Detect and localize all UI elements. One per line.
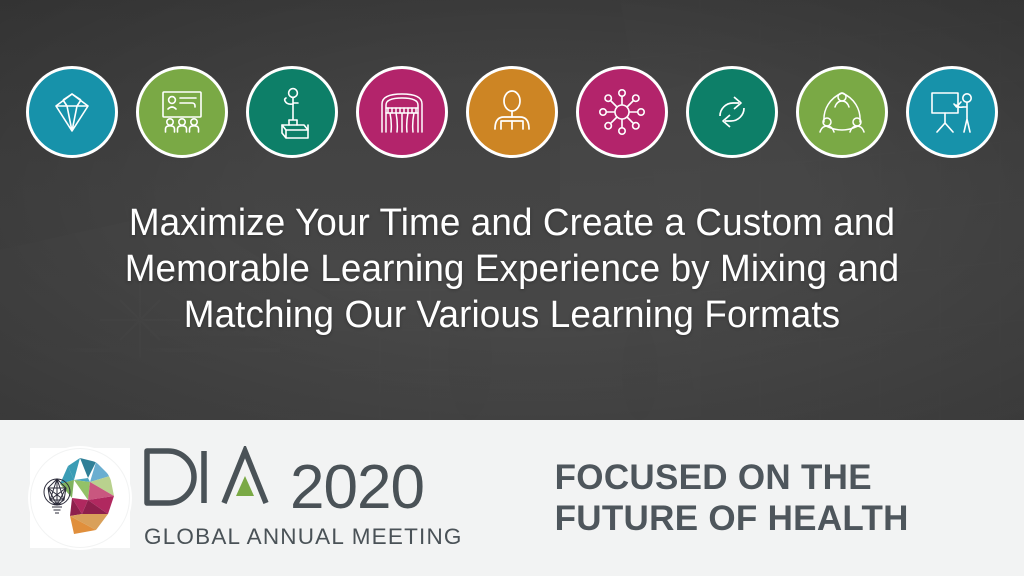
headline-line-1: Maximize Your Time and Create a Custom a…	[15, 200, 1008, 246]
theater-stage-icon[interactable]	[356, 66, 448, 158]
wordmark-dia	[142, 446, 290, 517]
wordmark-year: 2020	[290, 459, 424, 517]
three-people-circle-icon[interactable]	[796, 66, 888, 158]
brand-lockup: 2020 GLOBAL ANNUAL MEETING	[28, 446, 463, 550]
flipchart-presenter-icon[interactable]	[906, 66, 998, 158]
footer-bar: 2020 GLOBAL ANNUAL MEETING FOCUSED ON TH…	[0, 420, 1024, 576]
speaker-podium-icon[interactable]	[246, 66, 338, 158]
network-hub-icon[interactable]	[576, 66, 668, 158]
diamond-icon[interactable]	[26, 66, 118, 158]
tagline-line-2: FUTURE OF HEALTH	[555, 498, 909, 539]
person-reading-icon[interactable]	[466, 66, 558, 158]
brand-wordmark-block: 2020 GLOBAL ANNUAL MEETING	[142, 446, 463, 550]
learning-formats-icon-row	[0, 66, 1024, 172]
dia-2020-wordmark: 2020	[142, 446, 463, 517]
dia-2020-banner: Maximize Your Time and Create a Custom a…	[0, 0, 1024, 576]
presentation-class-icon[interactable]	[136, 66, 228, 158]
dia-head-lightbulb-logo	[28, 446, 132, 550]
page-title: Maximize Your Time and Create a Custom a…	[0, 200, 1024, 338]
refresh-cycle-icon[interactable]	[686, 66, 778, 158]
tagline-line-1: FOCUSED ON THE	[555, 457, 909, 498]
headline-line-2: Memorable Learning Experience by Mixing …	[15, 246, 1008, 292]
tagline: FOCUSED ON THE FUTURE OF HEALTH	[555, 457, 909, 539]
wordmark-subtitle: GLOBAL ANNUAL MEETING	[144, 524, 463, 550]
headline-line-3: Matching Our Various Learning Formats	[15, 292, 1008, 338]
